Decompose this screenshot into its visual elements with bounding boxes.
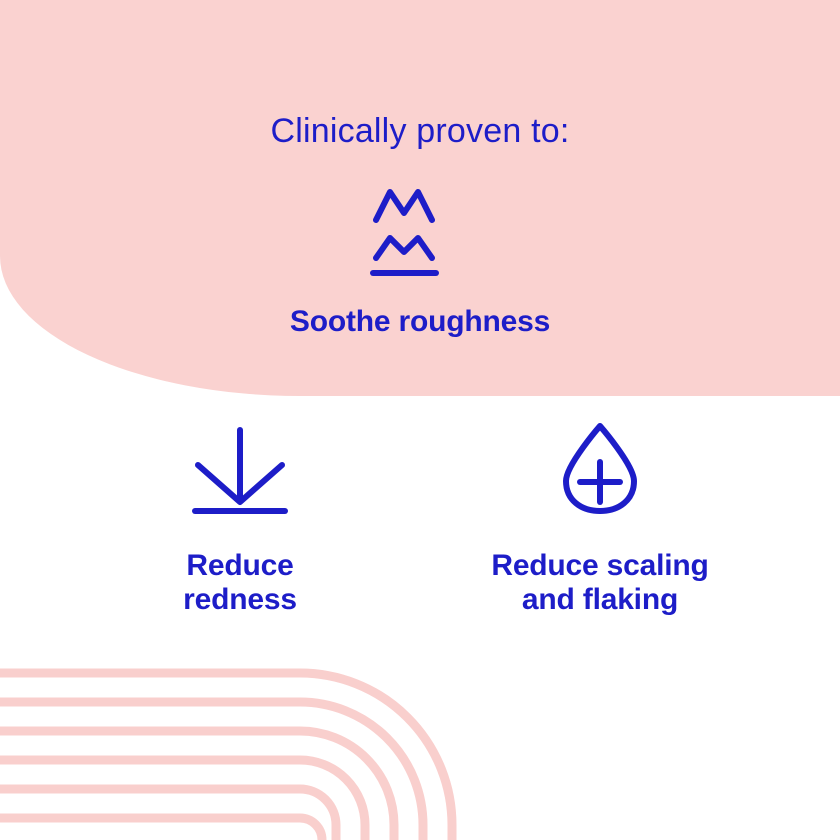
infographic-canvas: Clinically proven to: Soothe roughness: [0, 0, 840, 840]
page-title: Clinically proven to:: [0, 112, 840, 151]
feature-reduce-scaling-flaking-label-line-1: Reduce scaling: [491, 549, 708, 582]
feature-soothe-roughness: Soothe roughness: [220, 178, 620, 339]
down-arrow-to-line-icon: [90, 420, 390, 521]
droplet-plus-icon: [450, 420, 750, 521]
feature-reduce-scaling-flaking: Reduce scaling and flaking: [450, 420, 750, 616]
feature-soothe-roughness-label: Soothe roughness: [220, 305, 620, 339]
wavy-lines-icon: [220, 178, 620, 283]
feature-reduce-scaling-flaking-label-line-2: and flaking: [522, 583, 678, 616]
feature-reduce-redness-label-line-1: Reduce: [186, 549, 293, 582]
pink-concentric-arcs-decoration: [0, 640, 480, 840]
feature-reduce-redness: Reduce redness: [90, 420, 390, 616]
feature-reduce-redness-label: Reduce redness: [90, 549, 390, 616]
feature-reduce-redness-label-line-2: redness: [183, 583, 297, 616]
feature-reduce-scaling-flaking-label: Reduce scaling and flaking: [450, 549, 750, 616]
